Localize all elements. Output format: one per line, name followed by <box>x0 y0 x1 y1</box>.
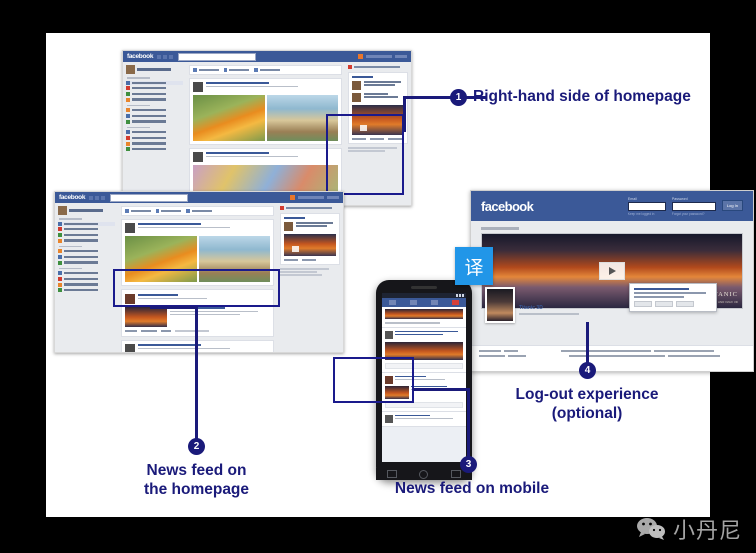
post-header <box>125 294 269 304</box>
connector-2-horizontal <box>150 306 197 309</box>
page-title-block: Titanic 3D <box>519 287 579 315</box>
phone-speaker <box>411 286 437 289</box>
ad-image[interactable] <box>284 234 336 256</box>
sidebar-item-news-feed[interactable] <box>58 222 115 226</box>
sidebar-item-news-feed[interactable] <box>126 81 183 85</box>
feed-post[interactable] <box>189 78 341 145</box>
phone-screen[interactable] <box>382 293 466 462</box>
post-image[interactable] <box>385 342 463 360</box>
connector-3-horizontal <box>413 388 469 391</box>
page-breadcrumb <box>481 227 519 230</box>
sidebar-item-events[interactable] <box>126 92 183 96</box>
mobile-feed-post[interactable] <box>382 412 466 427</box>
right-hand-column <box>345 62 411 205</box>
post-avatar <box>125 294 135 304</box>
news-feed-column <box>118 203 276 352</box>
logged-out-main: TITANIC IN THEATERS APRIL 2012 IN REAL 3… <box>471 221 753 371</box>
post-avatar <box>125 344 135 354</box>
share-button[interactable] <box>655 301 673 307</box>
slide-white-canvas: facebook <box>46 33 710 517</box>
sidebar-group-favorites <box>126 77 183 102</box>
account-menu[interactable] <box>358 54 407 59</box>
ad-avatar <box>284 222 293 231</box>
footer-links <box>280 268 340 276</box>
ad-actions[interactable] <box>352 138 404 140</box>
sidebar-group-pages <box>58 246 115 265</box>
android-phone-mockup[interactable] <box>376 280 472 480</box>
photo-flower[interactable] <box>125 236 196 282</box>
callout-number-2: 2 <box>188 438 205 455</box>
composer-add-photo[interactable] <box>156 209 182 213</box>
sponsored-header <box>348 65 408 69</box>
facebook-logged-out-page[interactable]: facebook Email Keep me logged in Passwor… <box>470 190 754 372</box>
ad-actions[interactable] <box>284 259 336 261</box>
page-title: Titanic 3D <box>519 305 579 311</box>
post-header <box>193 152 337 162</box>
post-actions[interactable] <box>125 330 269 332</box>
sidebar-item-messages[interactable] <box>58 227 115 231</box>
mobile-feed-post[interactable] <box>382 307 466 328</box>
sidebar-account[interactable] <box>58 206 115 215</box>
search-input[interactable] <box>110 194 188 202</box>
account-name-label <box>366 55 392 58</box>
titanic-video-thumbnail[interactable] <box>385 386 409 399</box>
connector-4-vertical <box>586 322 589 365</box>
facebook-body <box>55 203 343 352</box>
translate-glyph: 译 <box>464 253 483 280</box>
friend-requests-icon[interactable] <box>410 300 417 305</box>
comments-bar[interactable] <box>385 402 463 408</box>
feed-post[interactable] <box>121 219 273 286</box>
home-icon[interactable] <box>419 470 428 479</box>
account-menu[interactable] <box>290 195 339 200</box>
messages-icon[interactable] <box>431 300 438 305</box>
post-header <box>193 82 337 92</box>
callout-label-1: Right-hand side of homepage <box>473 87 691 106</box>
page-subtitle <box>519 313 579 315</box>
account-name-label <box>298 196 324 199</box>
composer-ask-question[interactable] <box>186 209 212 213</box>
search-input[interactable] <box>178 53 256 61</box>
facebook-top-bar: facebook <box>55 192 343 203</box>
facebook-homepage-screenshot-1[interactable]: facebook <box>122 50 412 206</box>
page-footer <box>471 345 753 371</box>
sidebar-item-create-group[interactable] <box>126 120 183 124</box>
composer-ask-question[interactable] <box>254 68 280 72</box>
post-avatar <box>385 331 393 339</box>
sidebar-item-nearby[interactable] <box>58 239 115 243</box>
connector-2-vertical <box>195 306 198 442</box>
slide-canvas-black-frame: facebook <box>0 0 756 553</box>
left-sidebar <box>123 62 186 205</box>
callout-label-2-line2: the homepage <box>128 480 265 499</box>
sponsored-ad-unit[interactable] <box>280 213 340 265</box>
sidebar-group-pages <box>126 105 183 124</box>
composer-update-status[interactable] <box>193 68 219 72</box>
sidebar-item-video[interactable] <box>58 277 115 281</box>
nav-icons <box>157 55 173 59</box>
post-photo-gallery[interactable] <box>125 236 269 282</box>
sidebar-item-page-updates[interactable] <box>126 147 183 151</box>
callout-label-4-line1: Log-out experience <box>501 385 673 404</box>
mobile-feed-post-titanic[interactable] <box>382 373 466 412</box>
email-label: Email <box>628 197 666 201</box>
sidebar-item-page-updates[interactable] <box>58 288 115 292</box>
login-button[interactable]: Log In <box>722 200 743 211</box>
facebook-logo: facebook <box>481 199 533 214</box>
avatar <box>290 195 295 200</box>
password-label: Password <box>672 197 716 201</box>
post-avatar <box>385 376 393 384</box>
sidebar-item-find-friends[interactable] <box>58 255 115 259</box>
footer-links <box>348 147 408 152</box>
connector-3-vertical <box>467 388 470 458</box>
feed-post-titanic[interactable] <box>121 289 273 337</box>
callout-label-2: News feed on the homepage <box>128 461 265 500</box>
password-field-group: Password Forgot your password? <box>672 197 716 216</box>
home-link[interactable] <box>395 55 407 58</box>
sponsored-header <box>280 206 340 210</box>
notifications-icon[interactable] <box>452 300 459 305</box>
sidebar-item-suggested[interactable] <box>58 283 115 287</box>
status-composer[interactable] <box>189 65 341 75</box>
translate-badge[interactable]: 译 <box>455 247 493 285</box>
post-avatar <box>385 415 393 423</box>
sidebar-item-suggested[interactable] <box>126 142 183 146</box>
sidebar-item-pages-games[interactable] <box>126 130 183 134</box>
home-link[interactable] <box>327 196 339 199</box>
avatar <box>358 54 363 59</box>
tooltip-title <box>634 288 689 290</box>
sidebar-item-video[interactable] <box>126 136 183 140</box>
sidebar-item-photos[interactable] <box>126 108 183 112</box>
facebook-homepage-screenshot-2[interactable]: facebook <box>54 191 344 353</box>
news-feed-column <box>186 62 344 205</box>
watermark: 小丹尼 <box>636 513 742 545</box>
nav-icons <box>89 196 105 200</box>
callout-label-3: News feed on mobile <box>387 479 557 498</box>
mobile-feed-post[interactable] <box>382 328 466 373</box>
sidebar-item-find-friends[interactable] <box>126 114 183 118</box>
play-button-icon[interactable] <box>599 262 625 280</box>
post-header <box>125 223 269 233</box>
post-header <box>125 344 269 354</box>
email-field-group: Email Keep me logged in <box>628 197 666 216</box>
forgot-password-link[interactable]: Forgot your password? <box>672 212 716 216</box>
photo-landscape[interactable] <box>199 236 270 282</box>
callout-number-4: 4 <box>579 362 596 379</box>
email-field[interactable] <box>628 202 666 211</box>
sidebar-group-apps <box>58 268 115 293</box>
tooltip-line <box>634 292 706 294</box>
sidebar-group-favorites <box>58 218 115 243</box>
facebook-top-bar: facebook <box>123 51 411 62</box>
logged-out-top-bar: facebook Email Keep me logged in Passwor… <box>471 191 753 221</box>
sidebar-item-messages[interactable] <box>126 86 183 90</box>
ad-avatar <box>352 81 361 90</box>
wechat-icon <box>636 517 666 541</box>
keep-me-logged-in[interactable]: Keep me logged in <box>628 212 666 216</box>
password-field[interactable] <box>672 202 716 211</box>
sidebar-item-nearby[interactable] <box>126 98 183 102</box>
photo-flower[interactable] <box>193 95 264 141</box>
callout-label-4: Log-out experience (optional) <box>501 385 673 424</box>
more-button[interactable] <box>676 301 694 307</box>
facebook-app-navbar[interactable] <box>382 298 466 307</box>
back-icon[interactable] <box>387 470 397 478</box>
page-profile-picture <box>485 287 515 323</box>
login-form[interactable]: Email Keep me logged in Password Forgot … <box>628 197 743 216</box>
facebook-logo: facebook <box>127 53 153 60</box>
composer-update-status[interactable] <box>125 209 151 213</box>
sidebar-item-photos[interactable] <box>58 249 115 253</box>
photo-landscape[interactable] <box>267 95 338 141</box>
ad-video-thumbnail[interactable] <box>352 105 404 135</box>
ad-avatar-2 <box>352 93 361 102</box>
like-button[interactable] <box>634 301 652 307</box>
feed-post[interactable] <box>121 340 273 354</box>
connector-1-vertical <box>403 96 406 132</box>
sidebar-item-pages-games[interactable] <box>58 271 115 275</box>
post-avatar <box>193 152 203 162</box>
facebook-logo: facebook <box>59 194 85 201</box>
sponsored-ad-unit[interactable] <box>348 72 408 144</box>
post-avatar <box>125 223 135 233</box>
watermark-text: 小丹尼 <box>673 513 742 545</box>
callout-number-1: 1 <box>450 89 467 106</box>
sidebar-group-apps <box>126 127 183 152</box>
tooltip-line <box>634 296 684 298</box>
sidebar-item-events[interactable] <box>58 233 115 237</box>
comments-bar[interactable] <box>385 363 463 369</box>
status-composer[interactable] <box>121 206 273 216</box>
post-photo-gallery[interactable] <box>193 95 337 141</box>
menu-icon[interactable] <box>389 300 396 305</box>
callout-label-2-line1: News feed on <box>128 461 265 480</box>
callout-label-4-line2: (optional) <box>501 404 673 423</box>
sidebar-item-create-group[interactable] <box>58 261 115 265</box>
like-tooltip-card[interactable] <box>629 283 717 312</box>
sidebar-account[interactable] <box>126 65 183 74</box>
right-hand-column <box>277 203 343 352</box>
recents-icon[interactable] <box>451 470 461 478</box>
left-sidebar <box>55 203 118 352</box>
post-avatar <box>193 82 203 92</box>
callout-number-3: 3 <box>460 456 477 473</box>
titanic-video-thumbnail[interactable] <box>125 307 167 327</box>
facebook-body <box>123 62 411 205</box>
tooltip-buttons[interactable] <box>634 301 712 307</box>
composer-add-photo[interactable] <box>224 68 250 72</box>
